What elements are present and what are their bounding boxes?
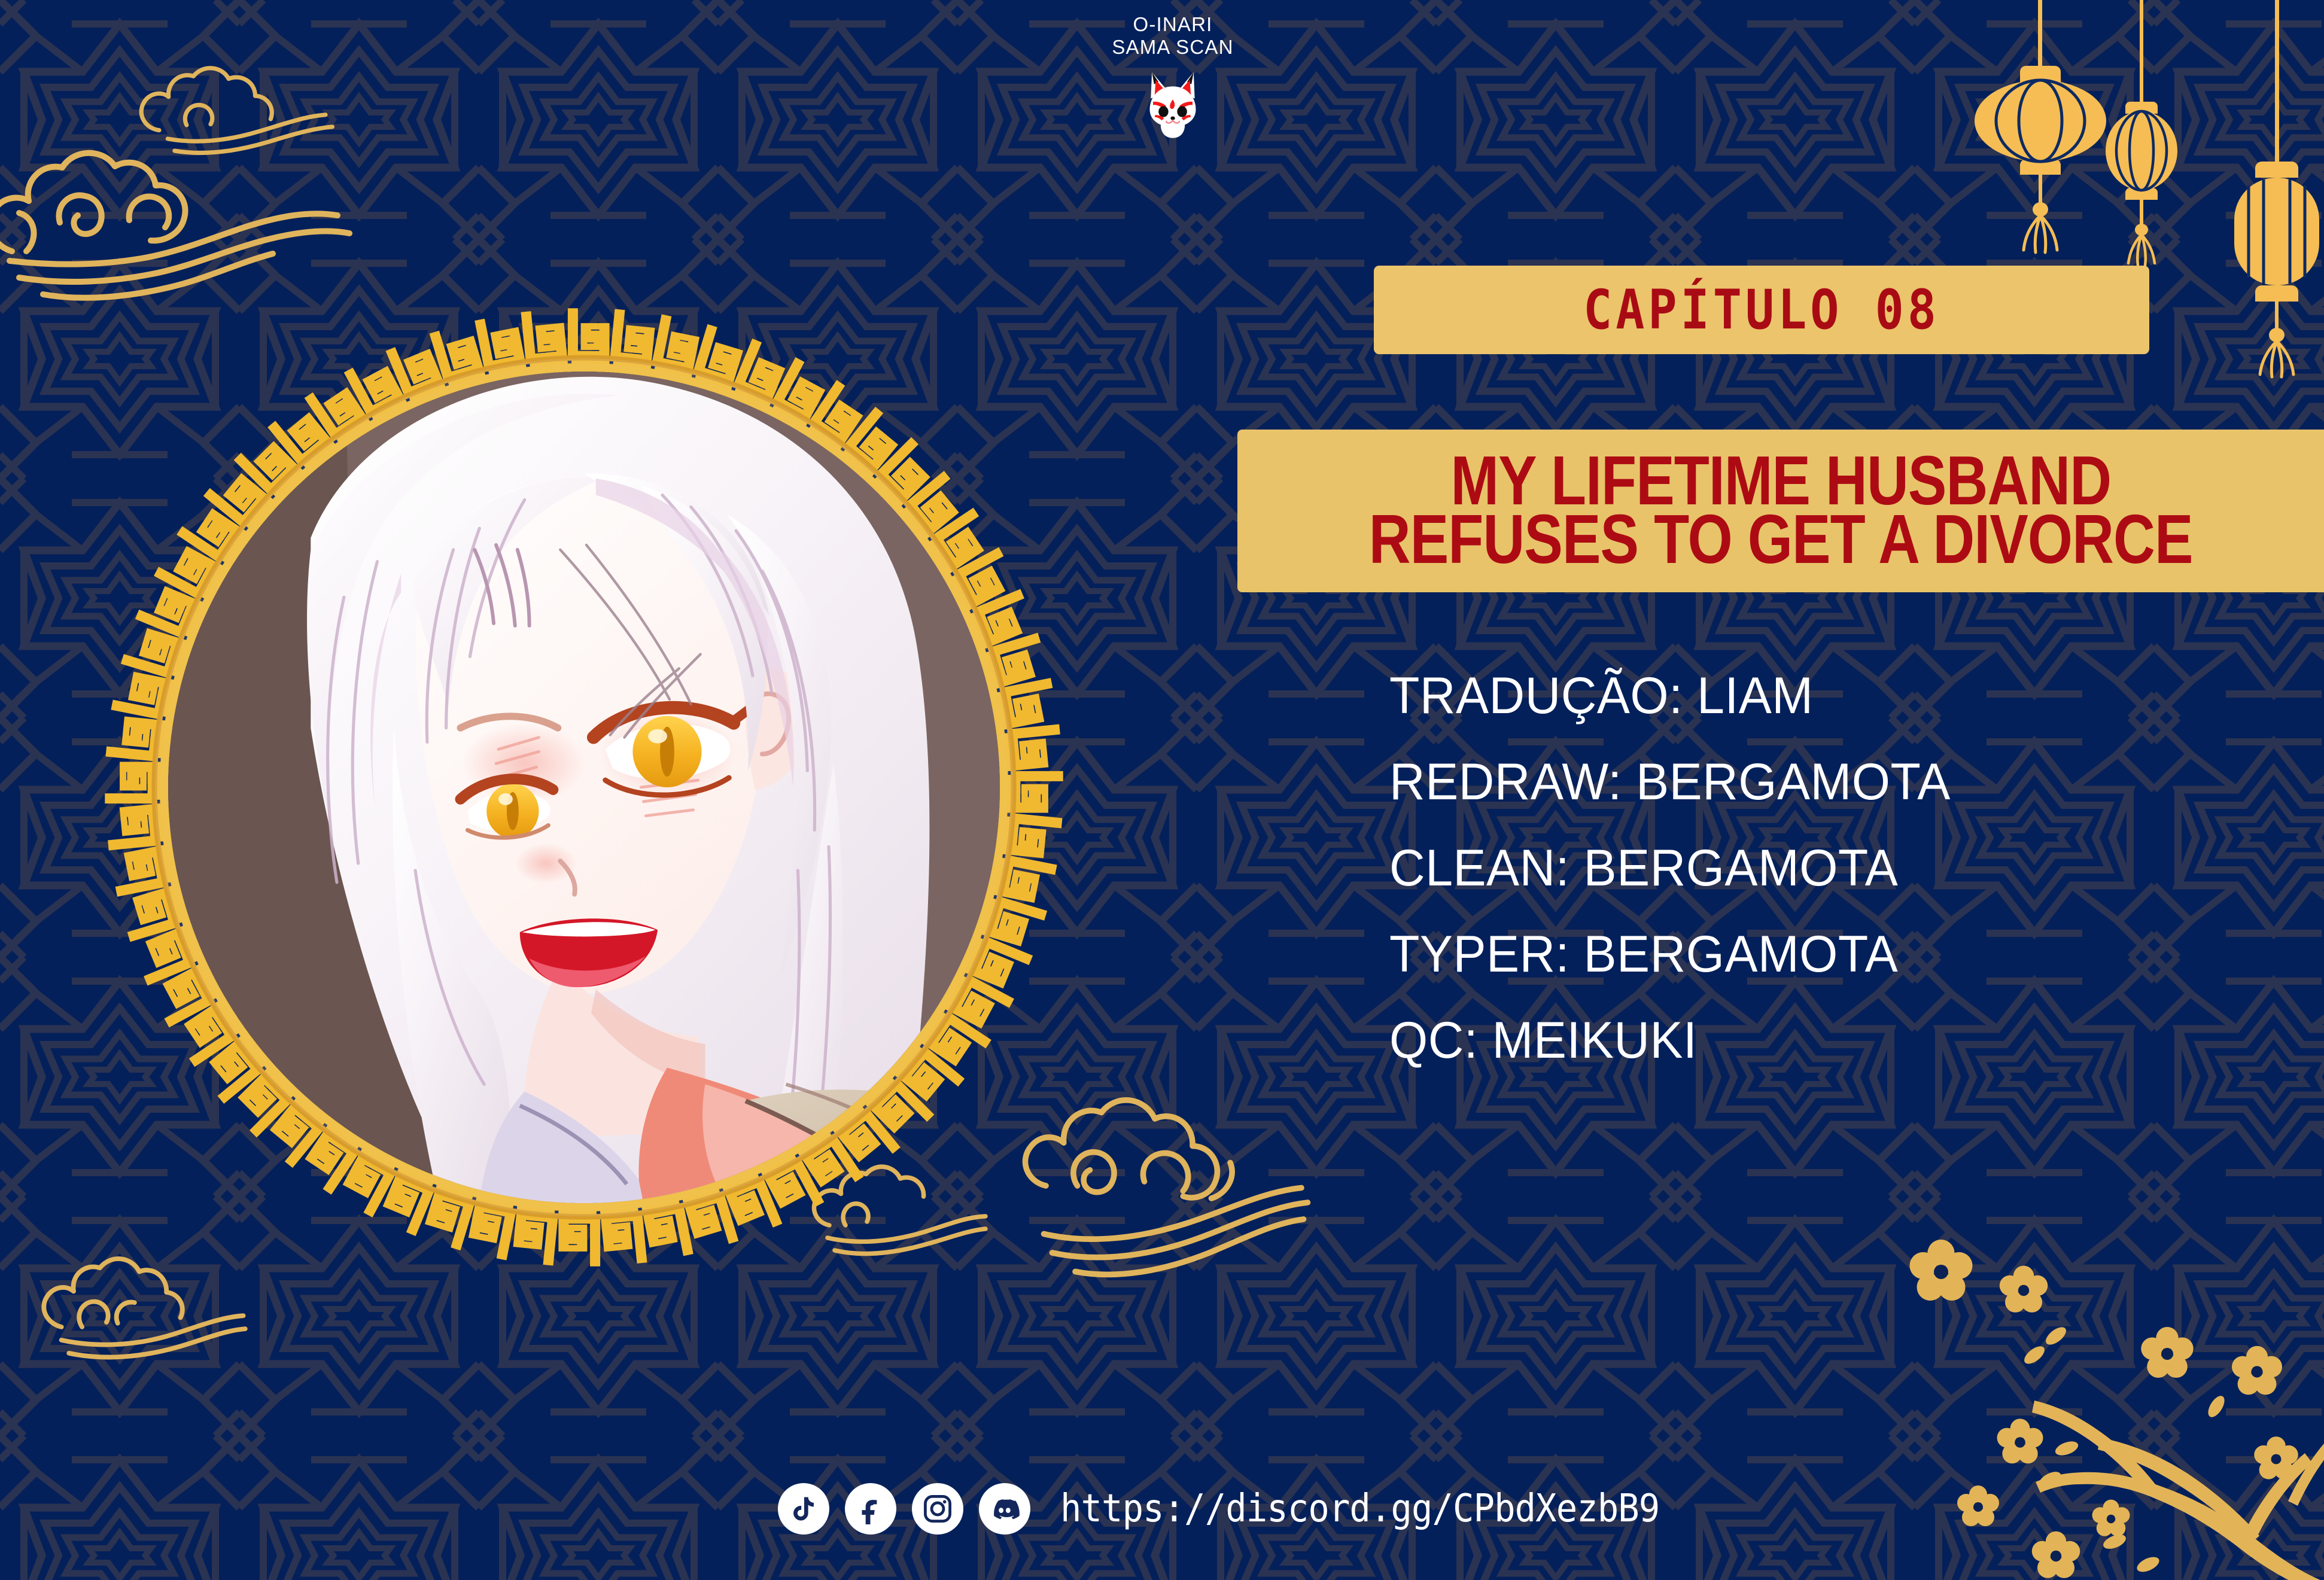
discord-url[interactable]: https://discord.gg/CPbdXezbB9 <box>1060 1487 1659 1531</box>
credit-typer: TYPER: BERGAMOTA <box>1389 928 2251 980</box>
credit-translation: TRADUÇÃO: LIAM <box>1389 670 2251 721</box>
credits-list: TRADUÇÃO: LIAM REDRAW: BERGAMOTA CLEAN: … <box>1389 670 2287 1066</box>
facebook-icon[interactable] <box>845 1483 896 1535</box>
series-title-banner: MY LIFETIME HUSBAND REFUSES TO GET A DIV… <box>1237 430 2324 592</box>
credit-qc: QC: MEIKUKI <box>1389 1015 2251 1066</box>
footer-social-bar: https://discord.gg/CPbdXezbB9 <box>778 1473 1711 1545</box>
title-line-2: REFUSES TO GET A DIVORCE <box>1369 507 2193 573</box>
character-portrait <box>168 372 1000 1203</box>
discord-icon[interactable] <box>979 1483 1030 1535</box>
chapter-cover-page: O-INARI SAMA SCAN <box>0 0 2324 1580</box>
instagram-icon[interactable] <box>912 1483 963 1535</box>
portrait-medallion <box>57 261 1111 1314</box>
scanlation-logo: O-INARI SAMA SCAN <box>1071 13 1274 193</box>
credit-redraw: REDRAW: BERGAMOTA <box>1389 756 2251 808</box>
logo-text: O-INARI SAMA SCAN <box>1112 13 1233 58</box>
chapter-banner: CAPÍTULO 08 <box>1374 266 2149 354</box>
credit-clean: CLEAN: BERGAMOTA <box>1389 842 2251 894</box>
fox-mask-icon <box>1140 66 1206 138</box>
chapter-label: CAPÍTULO 08 <box>1583 282 1940 337</box>
tiktok-icon[interactable] <box>778 1483 829 1535</box>
